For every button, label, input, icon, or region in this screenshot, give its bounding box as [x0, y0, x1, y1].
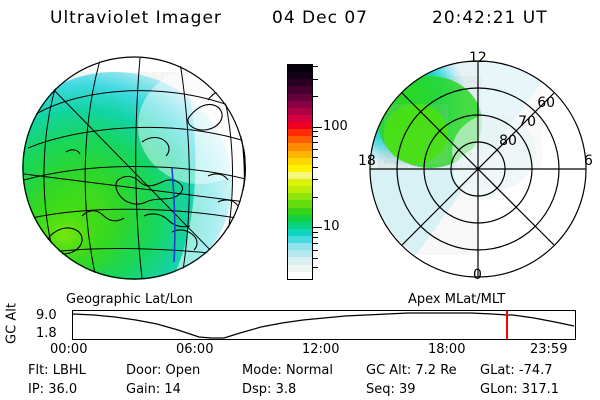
colorbar-band	[288, 151, 312, 158]
status-field: GC Alt: 7.2 Re	[366, 364, 457, 377]
observation-time: 20:42:21 UT	[432, 8, 548, 28]
colorbar-band	[288, 257, 312, 264]
status-field-label: GLat:	[480, 363, 519, 378]
orbit-xtick-0600: 06:00	[176, 343, 213, 356]
colorbar-minor-tick	[313, 167, 318, 168]
apex-polar-plot: 12 18 6 0 60 70 80	[364, 48, 592, 290]
colorbar-minor-tick	[313, 96, 318, 97]
status-field-value: LBHL	[53, 363, 86, 378]
status-field: Flt: LBHL	[28, 364, 86, 377]
status-field: Door: Open	[126, 364, 200, 377]
status-field-label: Seq:	[366, 382, 399, 397]
colorbar-minor-tick	[313, 131, 318, 132]
orbit-time-marker	[506, 311, 508, 339]
colorbar-minor-tick	[313, 179, 318, 180]
instrument-status-block: Flt: LBHLDoor: OpenMode: NormalGC Alt: 7…	[0, 362, 600, 400]
colorbar-minor-tick	[313, 197, 318, 198]
colorbar-band	[288, 86, 312, 93]
colorbar-band	[288, 129, 312, 136]
colorbar-ticks	[313, 64, 322, 280]
colorbar-band	[288, 101, 312, 108]
status-field: Mode: Normal	[242, 364, 333, 377]
status-field-label: Door:	[126, 363, 166, 378]
colorbar-band	[288, 143, 312, 150]
mlt-label-0: 0	[473, 268, 482, 282]
status-field-value: 14	[164, 382, 181, 397]
colorbar-major-tick	[313, 227, 322, 228]
status-field-value: 3.8	[276, 382, 297, 397]
orbit-ytick-high: 9.0	[36, 309, 57, 322]
mlt-label-12: 12	[469, 51, 487, 65]
mlat-label-60: 60	[537, 96, 555, 110]
colorbar-minor-tick	[313, 142, 318, 143]
page-title: Ultraviolet Imager	[50, 8, 222, 28]
colorbar-band	[288, 272, 312, 279]
geographic-panel-caption: Geographic Lat/Lon	[66, 292, 193, 307]
apex-polar-panel[interactable]: 12 18 6 0 60 70 80	[352, 42, 600, 294]
colorbar-band	[288, 158, 312, 165]
colorbar-band	[288, 165, 312, 172]
orbit-xtick-1200: 12:00	[302, 343, 339, 356]
status-field-value: Normal	[286, 363, 333, 378]
colorbar-minor-tick	[313, 258, 318, 259]
colorbar-band	[288, 65, 312, 72]
colorbar-band	[288, 243, 312, 250]
orbit-altitude-curve	[73, 311, 575, 339]
colorbar-band	[288, 208, 312, 215]
orbit-xtick-1800: 18:00	[428, 343, 465, 356]
colorbar-band	[288, 250, 312, 257]
header-bar: Ultraviolet Imager 04 Dec 07 20:42:21 UT	[0, 0, 600, 26]
status-field: Seq: 39	[366, 383, 416, 396]
colorbar-band	[288, 179, 312, 186]
mlt-label-18: 18	[358, 154, 376, 168]
geographic-globe	[22, 56, 246, 280]
status-field: GLat: -74.7	[480, 364, 553, 377]
mlt-label-6: 6	[584, 154, 593, 168]
orbit-xtick-0000: 00:00	[50, 343, 87, 356]
status-field-value: 36.0	[48, 382, 77, 397]
status-field: Gain: 14	[126, 383, 181, 396]
status-field: GLon: 317.1	[480, 383, 559, 396]
geographic-projection-panel[interactable]	[4, 42, 266, 294]
status-field-label: IP:	[28, 382, 48, 397]
orbit-xtick-2359: 23:59	[530, 343, 567, 356]
colorbar-band	[288, 122, 312, 129]
colorbar-minor-tick	[313, 66, 318, 67]
orbit-y-axis-label: GC Alt	[5, 296, 20, 352]
colorbar-band	[288, 186, 312, 193]
status-field-label: GLon:	[480, 382, 522, 397]
colorbar-band	[288, 79, 312, 86]
colorbar-minor-tick	[313, 250, 318, 251]
orbit-altitude-timeline[interactable]: GC Alt 9.0 1.8 00:00 06:00 12:00 18:00 2…	[0, 306, 600, 356]
colorbar-minor-tick	[313, 237, 318, 238]
apex-panel-caption: Apex MLat/MLT	[408, 292, 505, 307]
colorbar-minor-tick	[313, 149, 318, 150]
colorbar-band	[288, 94, 312, 101]
colorbar-minor-tick	[313, 243, 318, 244]
colorbar-label-10: 10	[323, 220, 340, 233]
colorbar-minor-tick	[313, 136, 318, 137]
colorbar-band	[288, 236, 312, 243]
colorbar-band	[288, 172, 312, 179]
colorbar-band	[288, 115, 312, 122]
colorbar-minor-tick	[313, 267, 318, 268]
colorbar-minor-tick	[313, 79, 318, 80]
status-field: Dsp: 3.8	[242, 383, 296, 396]
colorbar-band	[288, 108, 312, 115]
geographic-limb-arcs	[22, 56, 246, 280]
status-field: IP: 36.0	[28, 383, 77, 396]
colorbar-minor-tick	[313, 157, 318, 158]
status-field-label: Dsp:	[242, 382, 276, 397]
apex-aurora-image	[364, 48, 592, 290]
orbit-ytick-low: 1.8	[36, 327, 57, 340]
colorbar-label-100: 100	[323, 120, 348, 133]
observation-date: 04 Dec 07	[272, 8, 368, 28]
colorbar-major-tick	[313, 127, 322, 128]
status-field-label: Gain:	[126, 382, 164, 397]
orbit-curve-path	[73, 313, 574, 338]
colorbar-band	[288, 215, 312, 222]
colorbar-band	[288, 222, 312, 229]
colorbar-band	[288, 136, 312, 143]
status-field-value: 317.1	[522, 382, 559, 397]
mlat-label-70: 70	[518, 115, 536, 129]
status-field-value: 39	[399, 382, 416, 397]
colorbar-band	[288, 229, 312, 236]
colorbar-panel: photon cm-2s-1 100 10	[266, 42, 352, 294]
status-field-value: 7.2 Re	[415, 363, 456, 378]
uv-imager-display: Ultraviolet Imager 04 Dec 07 20:42:21 UT	[0, 0, 600, 400]
colorbar-minor-tick	[313, 232, 318, 233]
colorbar-band	[288, 265, 312, 272]
colorbar-band	[288, 200, 312, 207]
status-field-label: GC Alt:	[366, 363, 415, 378]
colorbar-gradient	[287, 64, 313, 280]
status-field-label: Mode:	[242, 363, 286, 378]
colorbar-band	[288, 72, 312, 79]
mlat-label-80: 80	[499, 134, 517, 148]
status-field-value: -74.7	[519, 363, 553, 378]
colorbar-band	[288, 193, 312, 200]
status-field-label: Flt:	[28, 363, 53, 378]
status-field-value: Open	[166, 363, 201, 378]
orbit-plot-area	[72, 310, 576, 340]
